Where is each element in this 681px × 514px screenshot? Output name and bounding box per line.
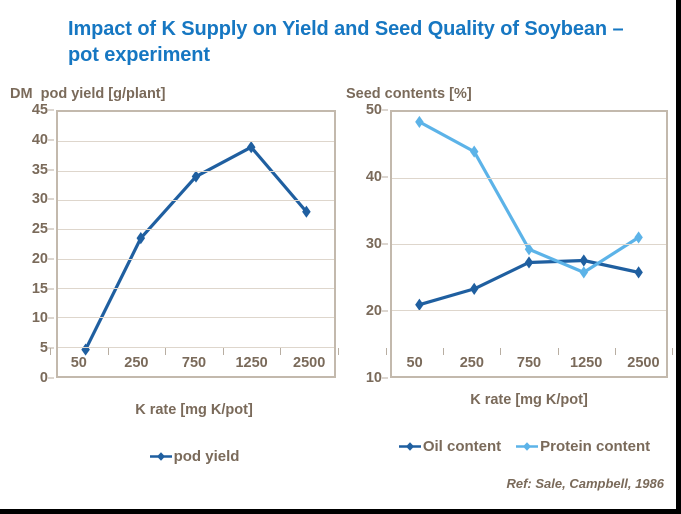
x-tick-mark [50,348,51,355]
y-tick-label: 30 [366,236,382,252]
x-tick-mark [672,348,673,355]
seed-contents-legend: Oil content Protein content [376,438,672,455]
gridline [58,171,334,172]
seed-contents-chart: 1020304050 [344,110,672,378]
x-tick-label: 2500 [627,355,659,371]
data-point-marker [415,116,423,128]
x-tick-label: 50 [407,355,423,371]
y-tick-label: 40 [32,132,48,148]
y-tick-label: 0 [40,370,48,386]
y-tick-label: 10 [32,310,48,326]
data-point-marker [634,231,642,243]
gridline [392,310,666,311]
y-tick-mark [48,169,54,170]
y-tick-mark [382,244,388,245]
pod-yield-chart: 051015202530354045 [10,110,340,378]
x-tick-label: 250 [124,355,148,371]
gridline [58,288,334,289]
x-tick-label: 50 [71,355,87,371]
legend-label: Oil content [423,438,501,455]
legend-marker-icon [398,440,422,453]
legend-label: pod yield [174,448,240,465]
pod-yield-y-axis: 051015202530354045 [10,110,54,378]
reference-note: Ref: Sale, Campbell, 1986 [506,476,664,491]
y-tick-label: 30 [32,191,48,207]
pod-yield-legend: pod yield [50,448,338,465]
legend-marker-icon [149,450,173,463]
y-tick-label: 20 [366,303,382,319]
pod-yield-x-axis: 5025075012502500 [50,348,338,376]
x-tick-label: 1250 [235,355,267,371]
legend-item[interactable]: pod yield [149,448,240,465]
y-tick-mark [48,199,54,200]
y-tick-mark [48,288,54,289]
data-point-marker [415,299,423,311]
y-tick-mark [48,378,54,379]
y-tick-label: 10 [366,370,382,386]
legend-item[interactable]: Protein content [515,438,650,455]
x-tick-label: 1250 [570,355,602,371]
legend-item[interactable]: Oil content [398,438,501,455]
legend-label: Protein content [540,438,650,455]
y-tick-mark [48,258,54,259]
x-tick-mark [386,348,387,355]
page-title: Impact of K Supply on Yield and Seed Qua… [68,16,628,68]
pod-yield-x-title: K rate [mg K/pot] [50,402,338,418]
pod-yield-series-layer [58,112,334,376]
x-tick-label: 2500 [293,355,325,371]
gridline [58,200,334,201]
seed-contents-y-axis: 1020304050 [344,110,388,378]
data-point-marker [580,254,588,266]
y-tick-mark [48,318,54,319]
y-tick-label: 50 [366,102,382,118]
x-tick-mark [338,348,339,355]
y-tick-mark [48,229,54,230]
gridline [58,317,334,318]
data-point-marker [580,266,588,278]
y-tick-label: 15 [32,281,48,297]
pod-yield-plot-area [56,110,336,378]
y-tick-label: 20 [32,251,48,267]
series-oil-content [415,254,643,310]
slide-canvas: Impact of K Supply on Yield and Seed Qua… [0,0,681,514]
y-tick-mark [48,110,54,111]
gridline [58,229,334,230]
x-tick-mark [108,348,109,355]
y-tick-mark [382,177,388,178]
y-tick-label: 45 [32,102,48,118]
x-tick-mark [443,348,444,355]
slide-content: Impact of K Supply on Yield and Seed Qua… [0,0,676,509]
y-tick-mark [382,110,388,111]
y-tick-mark [48,139,54,140]
x-tick-mark [280,348,281,355]
series-protein-content [415,116,643,279]
x-tick-mark [615,348,616,355]
x-tick-label: 250 [460,355,484,371]
gridline [392,178,666,179]
x-tick-label: 750 [182,355,206,371]
x-tick-mark [165,348,166,355]
x-tick-mark [558,348,559,355]
data-point-marker [525,256,533,268]
x-tick-mark [223,348,224,355]
series-pod-yield [81,141,310,356]
pod-yield-axis-title: DM pod yield [g/plant] [10,86,165,102]
seed-contents-x-title: K rate [mg K/pot] [386,392,672,408]
gridline [58,141,334,142]
seed-contents-plot-area [390,110,668,378]
y-tick-label: 5 [40,340,48,356]
seed-contents-x-axis: 5025075012502500 [386,348,672,376]
data-point-marker [470,283,478,295]
y-tick-mark [382,311,388,312]
y-tick-label: 25 [32,221,48,237]
x-tick-mark [500,348,501,355]
gridline [58,259,334,260]
y-tick-label: 35 [32,162,48,178]
x-tick-label: 750 [517,355,541,371]
seed-contents-axis-title: Seed contents [%] [346,86,472,102]
y-tick-label: 40 [366,169,382,185]
legend-marker-icon [515,440,539,453]
data-point-marker [634,266,642,278]
y-tick-mark [382,378,388,379]
gridline [392,244,666,245]
